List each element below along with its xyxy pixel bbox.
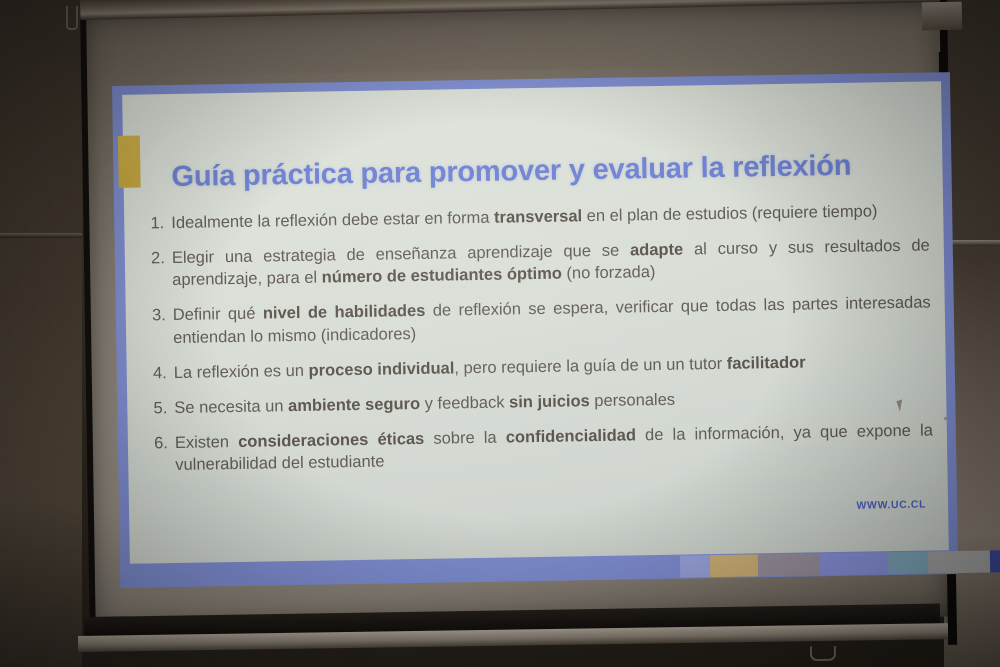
bullet-item: 2.Elegir una estrategia de enseñanza apr… (143, 234, 931, 292)
colorbar-segment (680, 555, 710, 577)
bullet-item: 4.La reflexión es un proceso individual,… (145, 349, 932, 384)
wall-left-panel (0, 0, 82, 667)
gold-accent-bar (118, 136, 141, 188)
bullet-number: 6. (146, 432, 176, 477)
screen-pull-handle[interactable] (810, 646, 836, 661)
bullet-item: 1.Idealmente la reflexión debe estar en … (142, 199, 929, 234)
bullet-number: 1. (142, 212, 171, 235)
roller-knob (935, 30, 940, 52)
ceiling-hook-icon (66, 6, 78, 30)
bullet-text: Definir qué nivel de habilidades de refl… (173, 292, 932, 349)
bullet-text: Se necesita un ambiente seguro y feedbac… (174, 384, 932, 419)
footer-url-label: WWW.UC.CL (856, 499, 926, 512)
bullet-text: La reflexión es un proceso individual, p… (174, 349, 932, 384)
roller-end-cap (922, 2, 963, 31)
colorbar-segment (710, 554, 758, 577)
bullet-item: 5.Se necesita un ambiente seguro y feedb… (145, 384, 932, 419)
screenshot-root: Guía práctica para promover y evaluar la… (0, 0, 1000, 667)
wall-left-seam (0, 233, 82, 238)
bullet-text: Elegir una estrategia de enseñanza apren… (172, 234, 931, 291)
bullet-text: Existen consideraciones éticas sobre la … (175, 419, 934, 476)
colorbar-segment (758, 553, 820, 576)
colorbar-segment (888, 552, 928, 575)
slide-content-area: Guía práctica para promover y evaluar la… (122, 81, 949, 564)
bullet-number: 5. (145, 397, 174, 420)
bullet-text: Idealmente la reflexión debe estar en fo… (171, 199, 929, 234)
colorbar-segment (990, 550, 1000, 572)
bullet-item: 3.Definir qué nivel de habilidades de re… (144, 292, 932, 350)
bullet-list: 1.Idealmente la reflexión debe estar en … (142, 199, 933, 489)
screen-speck (944, 417, 947, 420)
colorbar-segment (928, 551, 990, 574)
projected-slide: Guía práctica para promover y evaluar la… (112, 72, 958, 588)
bullet-number: 2. (143, 247, 173, 292)
slide-title: Guía práctica para promover y evaluar la… (171, 149, 912, 194)
footer-colorbar (680, 551, 958, 578)
bullet-number: 3. (144, 304, 174, 349)
bullet-item: 6.Existen consideraciones éticas sobre l… (146, 419, 934, 477)
colorbar-segment (820, 552, 888, 575)
bullet-number: 4. (145, 362, 174, 385)
